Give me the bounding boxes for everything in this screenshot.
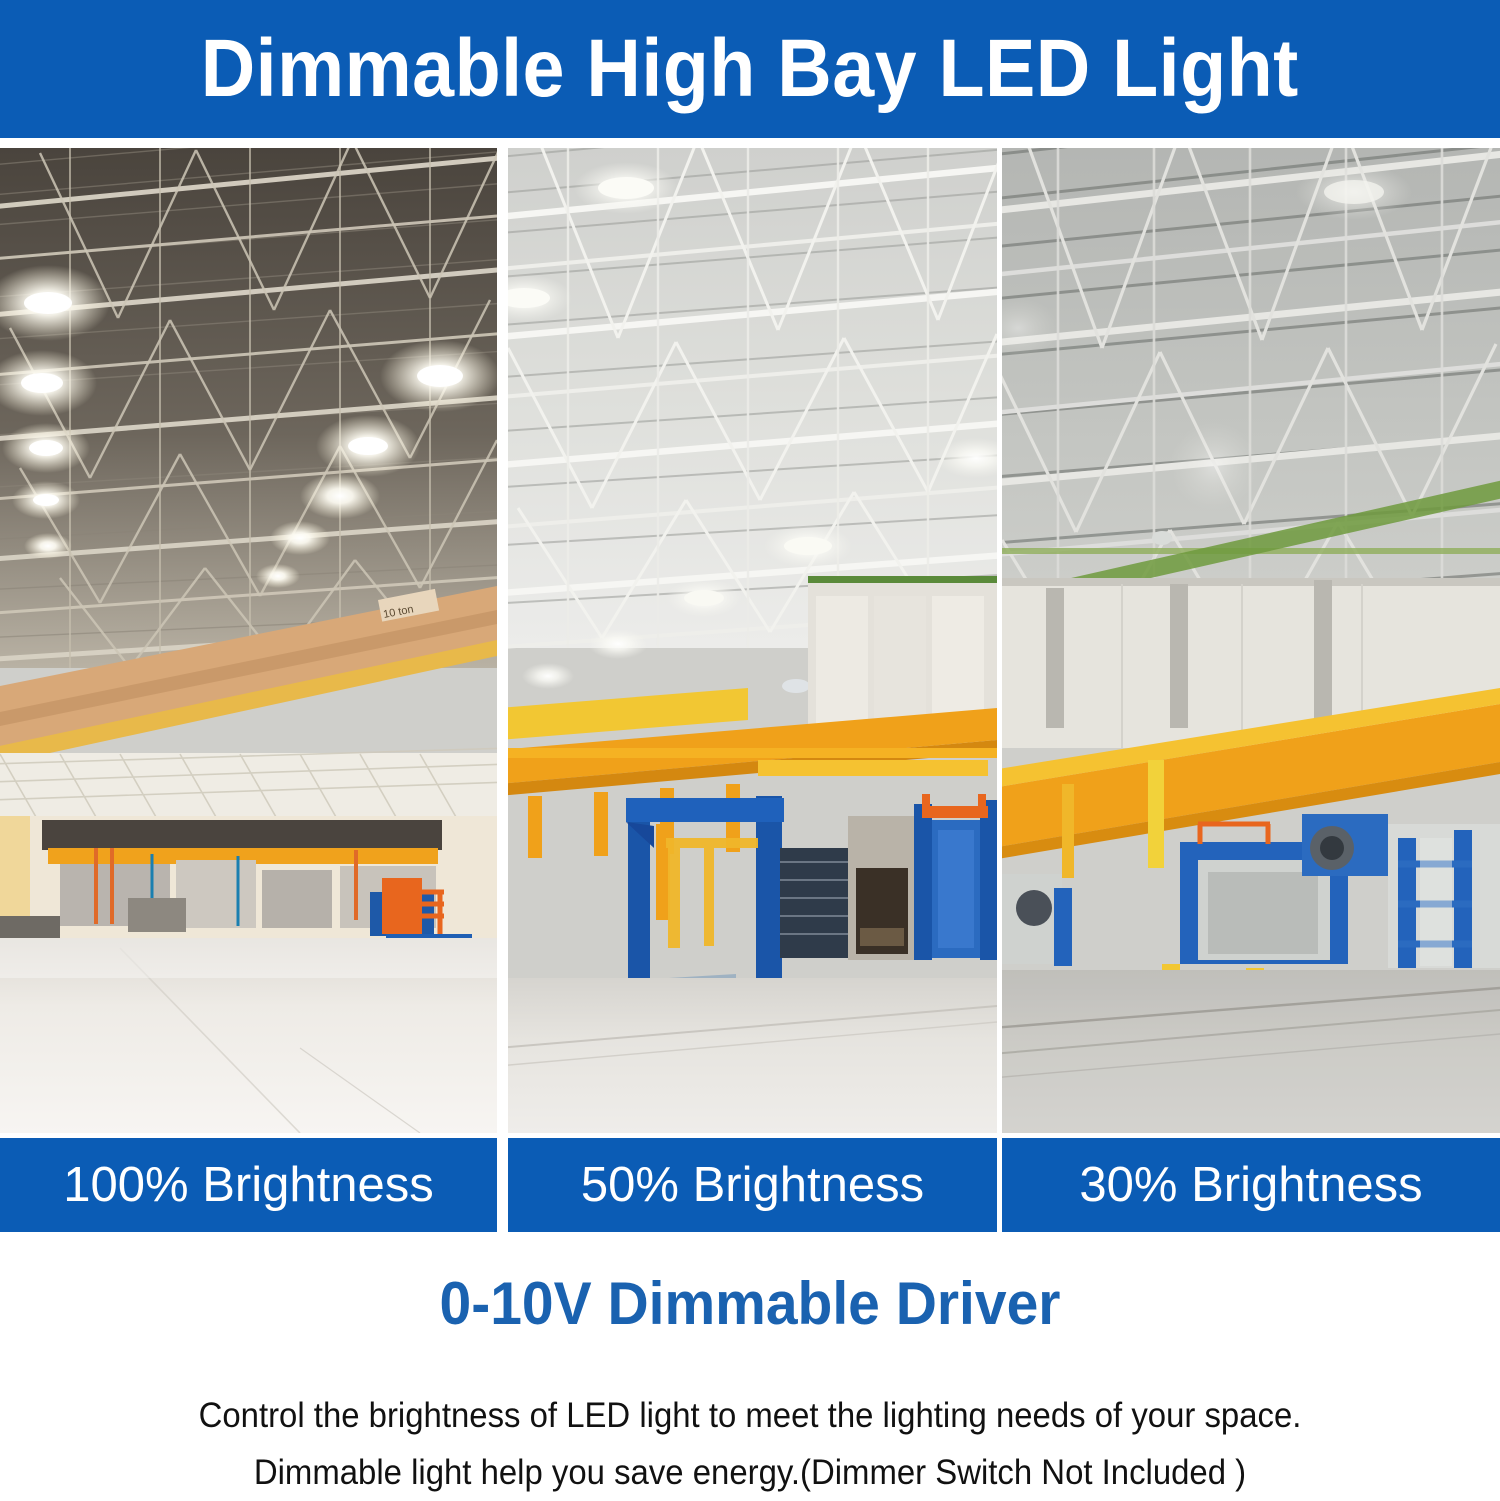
footer-description: Control the brightness of LED light to m… bbox=[45, 1388, 1455, 1501]
warehouse-photo-dim bbox=[1002, 148, 1500, 1133]
warehouse-photo-medium bbox=[508, 148, 997, 1133]
panel-divider-1 bbox=[497, 148, 508, 1133]
warehouse-photo-bright: 10 ton bbox=[0, 148, 497, 1133]
photo-panel-30-percent[interactable] bbox=[1002, 148, 1500, 1133]
footer-line-1: Control the brightness of LED light to m… bbox=[45, 1388, 1455, 1445]
page-title: Dimmable High Bay LED Light bbox=[201, 28, 1299, 110]
label-divider-1 bbox=[497, 1138, 508, 1232]
product-feature-card: Dimmable High Bay LED Light bbox=[0, 0, 1500, 1500]
brightness-label-strip: 100% Brightness 50% Brightness 30% Brigh… bbox=[0, 1138, 1500, 1232]
photo-panel-50-percent[interactable] bbox=[508, 148, 997, 1133]
brightness-comparison-gallery: 10 ton bbox=[0, 148, 1500, 1133]
brightness-label-100: 100% Brightness bbox=[0, 1138, 497, 1232]
photo-panel-100-percent[interactable]: 10 ton bbox=[0, 148, 497, 1133]
footer-line-2: Dimmable light help you save energy.(Dim… bbox=[45, 1445, 1455, 1501]
brightness-label-50: 50% Brightness bbox=[508, 1138, 997, 1232]
header-banner: Dimmable High Bay LED Light bbox=[0, 0, 1500, 138]
brightness-label-30: 30% Brightness bbox=[1002, 1138, 1500, 1232]
footer-heading: 0-10V Dimmable Driver bbox=[38, 1274, 1463, 1334]
footer-section: 0-10V Dimmable Driver Control the bright… bbox=[0, 1232, 1500, 1500]
furnace-door bbox=[914, 794, 997, 960]
